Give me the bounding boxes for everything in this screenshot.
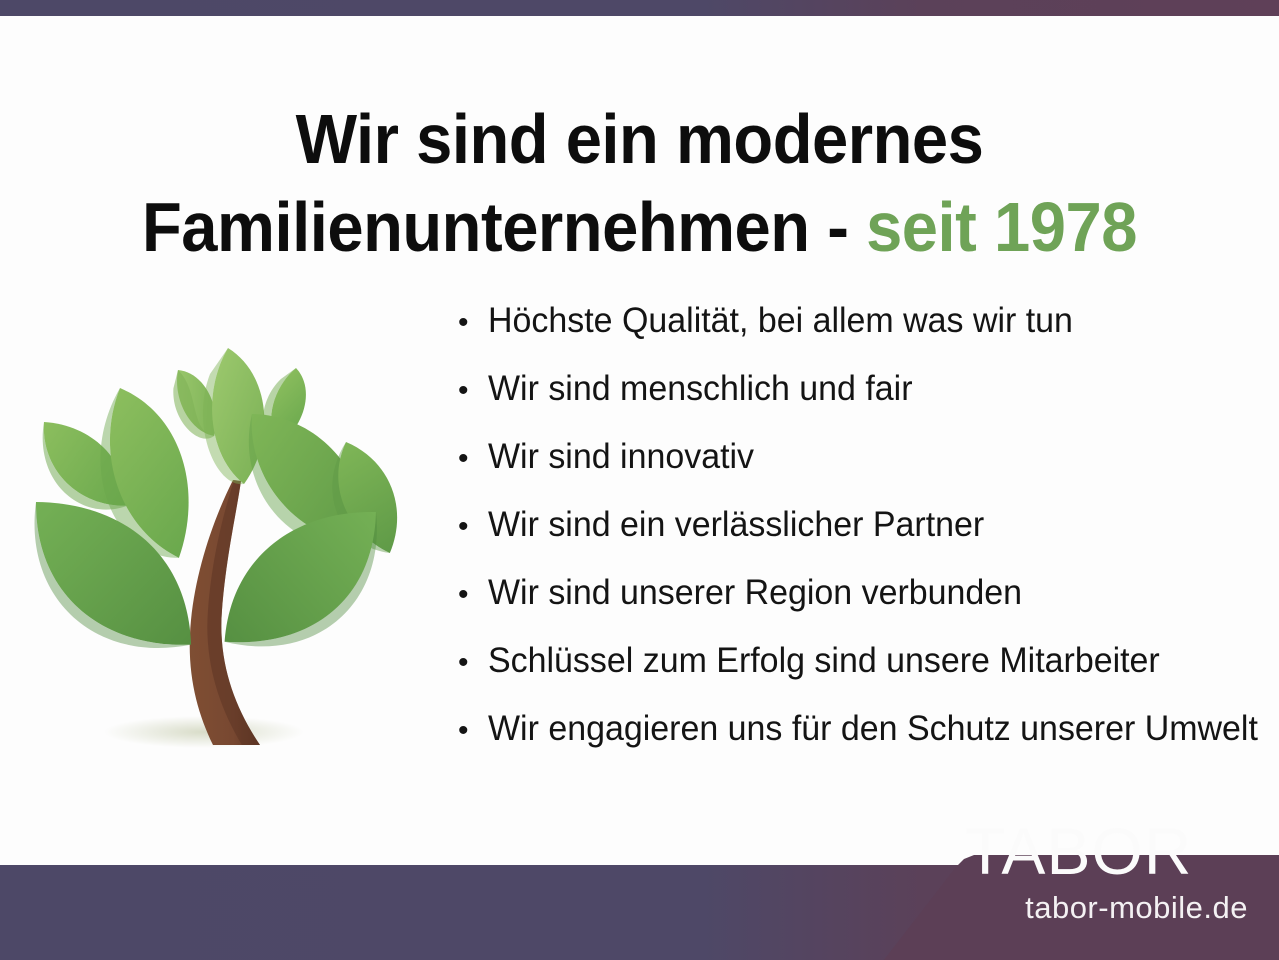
list-item: • Wir sind menschlich und fair	[458, 371, 1268, 439]
value-bullet-list: • Höchste Qualität, bei allem was wir tu…	[458, 303, 1268, 779]
headline-line-2-main: Familienunternehmen -	[142, 188, 866, 266]
list-item: • Wir engagieren uns für den Schutz unse…	[458, 711, 1268, 779]
bullet-text: Schlüssel zum Erfolg sind unsere Mitarbe…	[488, 643, 1160, 679]
top-brand-bar	[0, 0, 1279, 16]
list-item: • Höchste Qualität, bei allem was wir tu…	[458, 303, 1268, 371]
slide-headline: Wir sind ein modernes Familienunternehme…	[45, 95, 1234, 271]
list-item: • Schlüssel zum Erfolg sind unsere Mitar…	[458, 643, 1268, 711]
bullet-dot-icon: •	[458, 580, 488, 610]
bullet-text: Wir sind innovativ	[488, 439, 754, 475]
bullet-dot-icon: •	[458, 308, 488, 338]
bullet-text: Höchste Qualität, bei allem was wir tun	[488, 303, 1073, 339]
bullet-dot-icon: •	[458, 648, 488, 678]
list-item: • Wir sind innovativ	[458, 439, 1268, 507]
tabor-logo[interactable]: TABOR tabor-mobile.de	[965, 818, 1265, 948]
logo-wordmark: TABOR	[965, 818, 1265, 884]
bullet-text: Wir sind menschlich und fair	[488, 371, 913, 407]
headline-accent-since: seit 1978	[866, 188, 1137, 266]
headline-line-2: Familienunternehmen - seit 1978	[45, 183, 1234, 271]
slide-canvas: Wir sind ein modernes Familienunternehme…	[0, 0, 1279, 960]
logo-domain: tabor-mobile.de	[965, 892, 1248, 924]
bullet-text: Wir engagieren uns für den Schutz unsere…	[488, 711, 1258, 747]
bullet-dot-icon: •	[458, 716, 488, 746]
list-item: • Wir sind unserer Region verbunden	[458, 575, 1268, 643]
bullet-text: Wir sind unserer Region verbunden	[488, 575, 1022, 611]
headline-line-1: Wir sind ein modernes	[45, 95, 1234, 183]
tree-illustration	[28, 330, 440, 762]
list-item: • Wir sind ein verlässlicher Partner	[458, 507, 1268, 575]
bullet-dot-icon: •	[458, 512, 488, 542]
bullet-text: Wir sind ein verlässlicher Partner	[488, 507, 984, 543]
bullet-dot-icon: •	[458, 376, 488, 406]
bullet-dot-icon: •	[458, 444, 488, 474]
